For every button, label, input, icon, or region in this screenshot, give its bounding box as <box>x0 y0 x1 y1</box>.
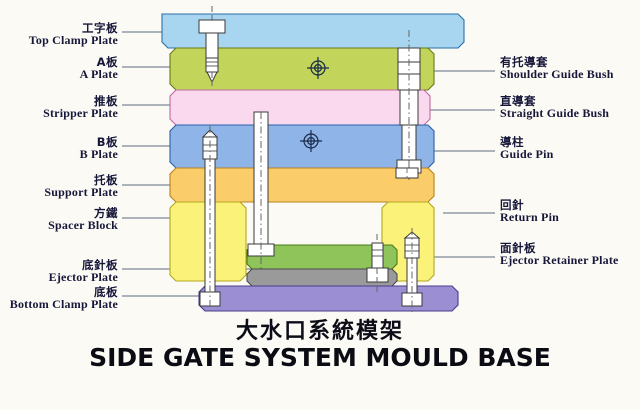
label-ejector-retainer-plate: 面針板 Ejector Retainer Plate <box>500 242 619 267</box>
label-top-clamp-plate: 工字板 Top Clamp Plate <box>29 22 118 47</box>
label-ejector-retainer-plate-en: Ejector Retainer Plate <box>500 254 619 267</box>
label-ejector-plate: 底針板 Ejector Plate <box>49 259 118 284</box>
label-a-plate-en: A Plate <box>80 68 118 81</box>
label-b-plate-en: B Plate <box>80 148 118 161</box>
label-stripper-plate-en: Stripper Plate <box>43 107 118 120</box>
label-support-plate: 托板 Support Plate <box>44 174 118 199</box>
label-support-plate-en: Support Plate <box>44 186 118 199</box>
label-a-plate: A板 A Plate <box>80 56 118 81</box>
page-title-en: SIDE GATE SYSTEM MOULD BASE <box>0 343 640 372</box>
label-bottom-clamp-plate-en: Bottom Clamp Plate <box>10 298 118 311</box>
label-b-plate: B板 B Plate <box>80 136 118 161</box>
label-return-pin: 回針 Return Pin <box>500 199 559 224</box>
page-title-cn: 大水口系統模架 <box>0 313 640 345</box>
cap-screw-head <box>199 20 225 33</box>
label-ejector-plate-en: Ejector Plate <box>49 271 118 284</box>
label-guide-pin-en: Guide Pin <box>500 148 553 161</box>
label-guide-pin: 導柱 Guide Pin <box>500 136 553 161</box>
label-spacer-block-en: Spacer Block <box>48 219 118 232</box>
label-stripper-plate: 推板 Stripper Plate <box>43 95 118 120</box>
label-shoulder-guide-bush: 有托導套 Shoulder Guide Bush <box>500 56 614 81</box>
diagram-root: 工字板 Top Clamp Plate A板 A Plate 推板 Stripp… <box>0 0 640 410</box>
label-return-pin-en: Return Pin <box>500 211 559 224</box>
label-top-clamp-plate-en: Top Clamp Plate <box>29 34 118 47</box>
support-plate-screw-right <box>396 168 418 178</box>
label-spacer-block: 方鐵 Spacer Block <box>48 207 118 232</box>
plate-stripper-plate <box>170 90 430 125</box>
label-straight-guide-bush-en: Straight Guide Bush <box>500 107 609 120</box>
label-bottom-clamp-plate: 底板 Bottom Clamp Plate <box>10 286 118 311</box>
label-shoulder-guide-bush-en: Shoulder Guide Bush <box>500 68 614 81</box>
cap-screw-thread <box>206 58 218 72</box>
label-straight-guide-bush: 直導套 Straight Guide Bush <box>500 95 609 120</box>
